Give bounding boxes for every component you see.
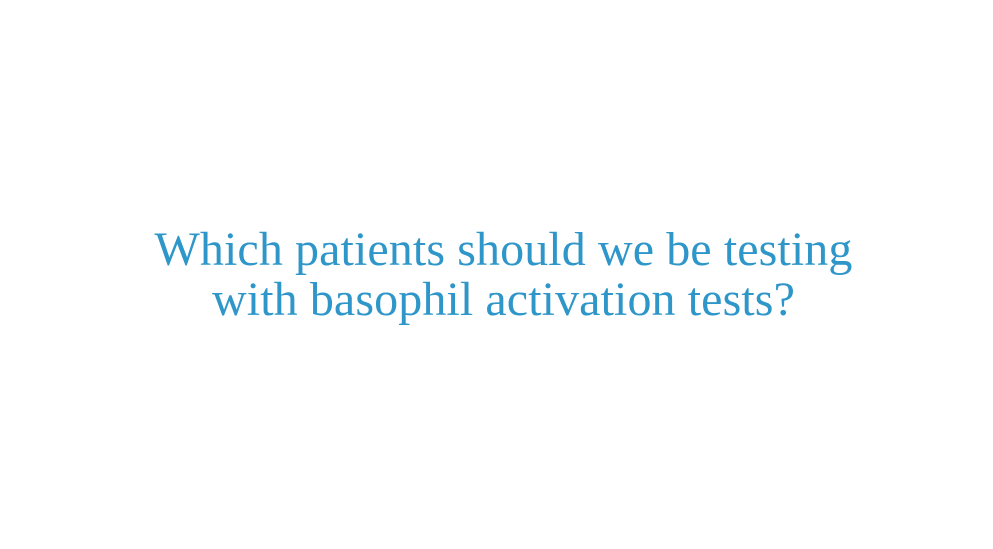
title-block: Which patients should we be testing with… (124, 225, 884, 325)
title-line-1: Which patients should we be testing (124, 225, 884, 275)
title-line-2: with basophil activation tests? (124, 275, 884, 325)
slide-content-area: Which patients should we be testing with… (0, 0, 993, 549)
slide-frame: Which patients should we be testing with… (0, 0, 993, 549)
